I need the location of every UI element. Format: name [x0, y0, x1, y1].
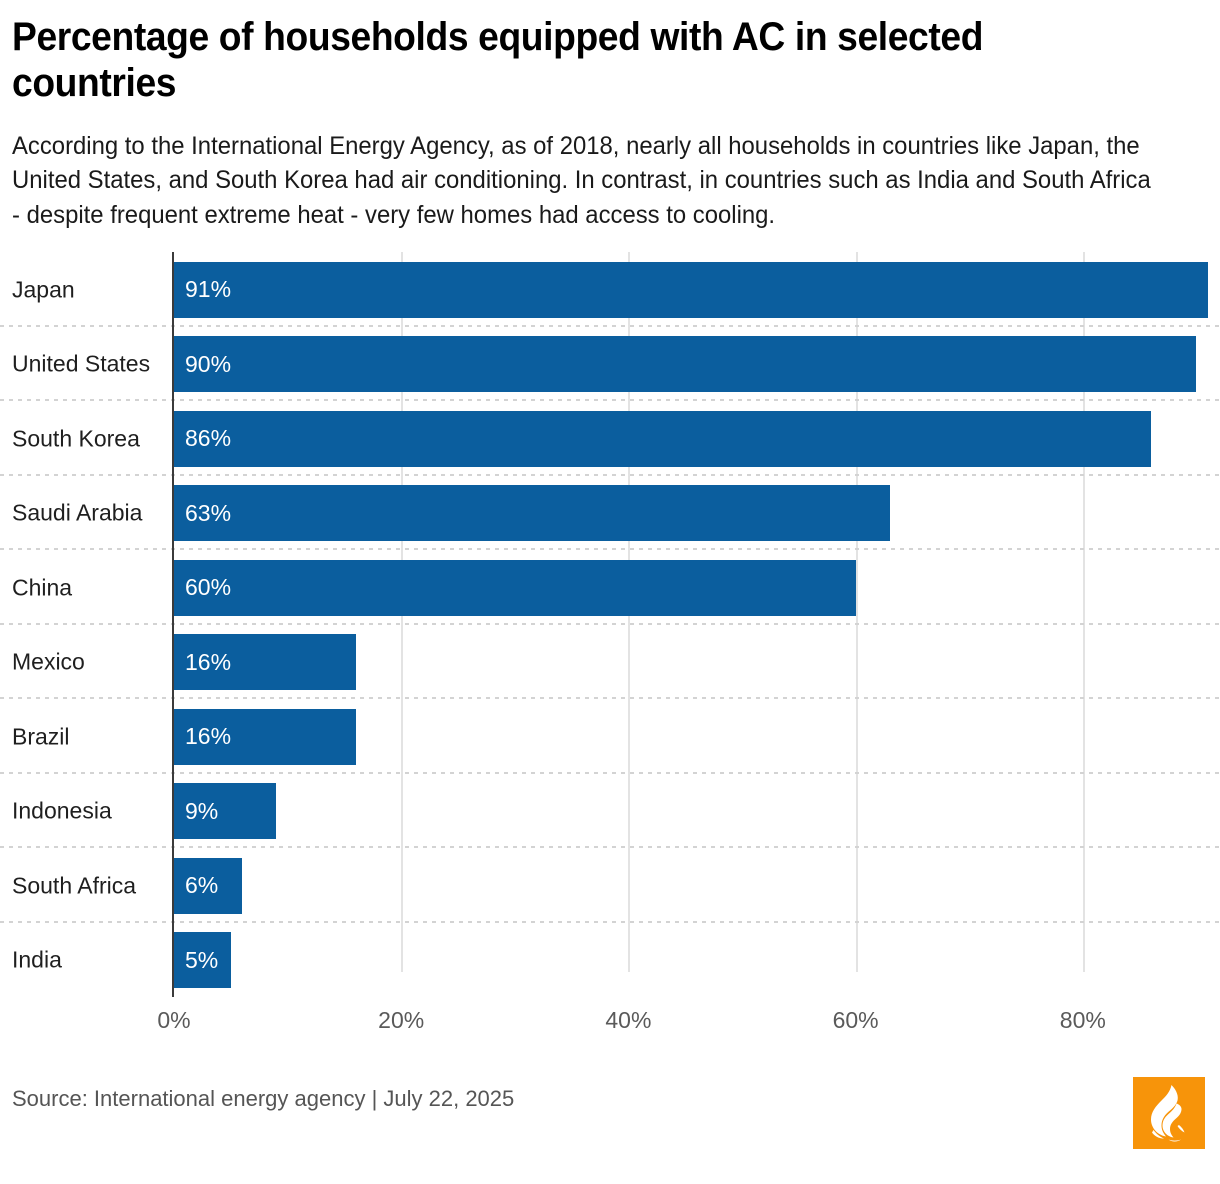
- bar: 5%: [174, 932, 231, 988]
- bar-value-label: 9%: [174, 798, 218, 825]
- bar: 16%: [174, 634, 356, 690]
- bar-value-label: 60%: [174, 574, 231, 601]
- bar-value-label: 16%: [174, 723, 231, 750]
- chart-subtitle: According to the International Energy Ag…: [12, 129, 1152, 233]
- bar-row: South Korea86%: [0, 401, 1220, 476]
- y-axis-line: [172, 252, 174, 997]
- category-label: Saudi Arabia: [12, 500, 142, 527]
- bar-value-label: 16%: [174, 649, 231, 676]
- chart-plot: Japan91%United States90%South Korea86%Sa…: [0, 252, 1220, 997]
- category-label: India: [12, 947, 62, 974]
- bar-row: South Africa6%: [0, 848, 1220, 923]
- x-tick-label: 40%: [605, 1007, 651, 1034]
- x-tick-label: 0%: [157, 1007, 190, 1034]
- bar-value-label: 5%: [174, 947, 218, 974]
- bar: 86%: [174, 411, 1151, 467]
- x-tick-label: 80%: [1060, 1007, 1106, 1034]
- source-note: Source: International energy agency | Ju…: [12, 1086, 514, 1112]
- bar-row: Brazil16%: [0, 699, 1220, 774]
- bar: 90%: [174, 336, 1196, 392]
- bar-row: Mexico16%: [0, 625, 1220, 700]
- bar-row: United States90%: [0, 327, 1220, 402]
- bar-row: Saudi Arabia63%: [0, 476, 1220, 551]
- x-axis: 0%20%40%60%80%: [0, 997, 1220, 1047]
- bar-row: China60%: [0, 550, 1220, 625]
- bar: 6%: [174, 858, 242, 914]
- category-label: China: [12, 574, 72, 601]
- bar: 63%: [174, 485, 890, 541]
- x-tick-label: 60%: [833, 1007, 879, 1034]
- category-label: Japan: [12, 276, 75, 303]
- category-label: United States: [12, 351, 150, 378]
- bar-row: Indonesia9%: [0, 774, 1220, 849]
- category-label: Brazil: [12, 723, 70, 750]
- chart-footer: Source: International energy agency | Ju…: [0, 1064, 1220, 1184]
- bar-row: Japan91%: [0, 252, 1220, 327]
- bar-value-label: 86%: [174, 425, 231, 452]
- infographic-page: Percentage of households equipped with A…: [0, 0, 1220, 1184]
- bar-value-label: 6%: [174, 872, 218, 899]
- bar-value-label: 91%: [174, 276, 231, 303]
- bar: 9%: [174, 783, 276, 839]
- al-jazeera-logo: [1133, 1077, 1205, 1149]
- category-label: South Korea: [12, 425, 140, 452]
- chart-header: Percentage of households equipped with A…: [0, 0, 1220, 232]
- category-label: Indonesia: [12, 798, 112, 825]
- bar: 91%: [174, 262, 1208, 318]
- category-label: Mexico: [12, 649, 85, 676]
- bar-rows: Japan91%United States90%South Korea86%Sa…: [0, 252, 1220, 997]
- x-tick-label: 20%: [378, 1007, 424, 1034]
- category-label: South Africa: [12, 872, 136, 899]
- bar-value-label: 63%: [174, 500, 231, 527]
- bar-row: India5%: [0, 923, 1220, 998]
- bar: 16%: [174, 709, 356, 765]
- page-title: Percentage of households equipped with A…: [12, 14, 1122, 107]
- bar-value-label: 90%: [174, 351, 231, 378]
- bar: 60%: [174, 560, 856, 616]
